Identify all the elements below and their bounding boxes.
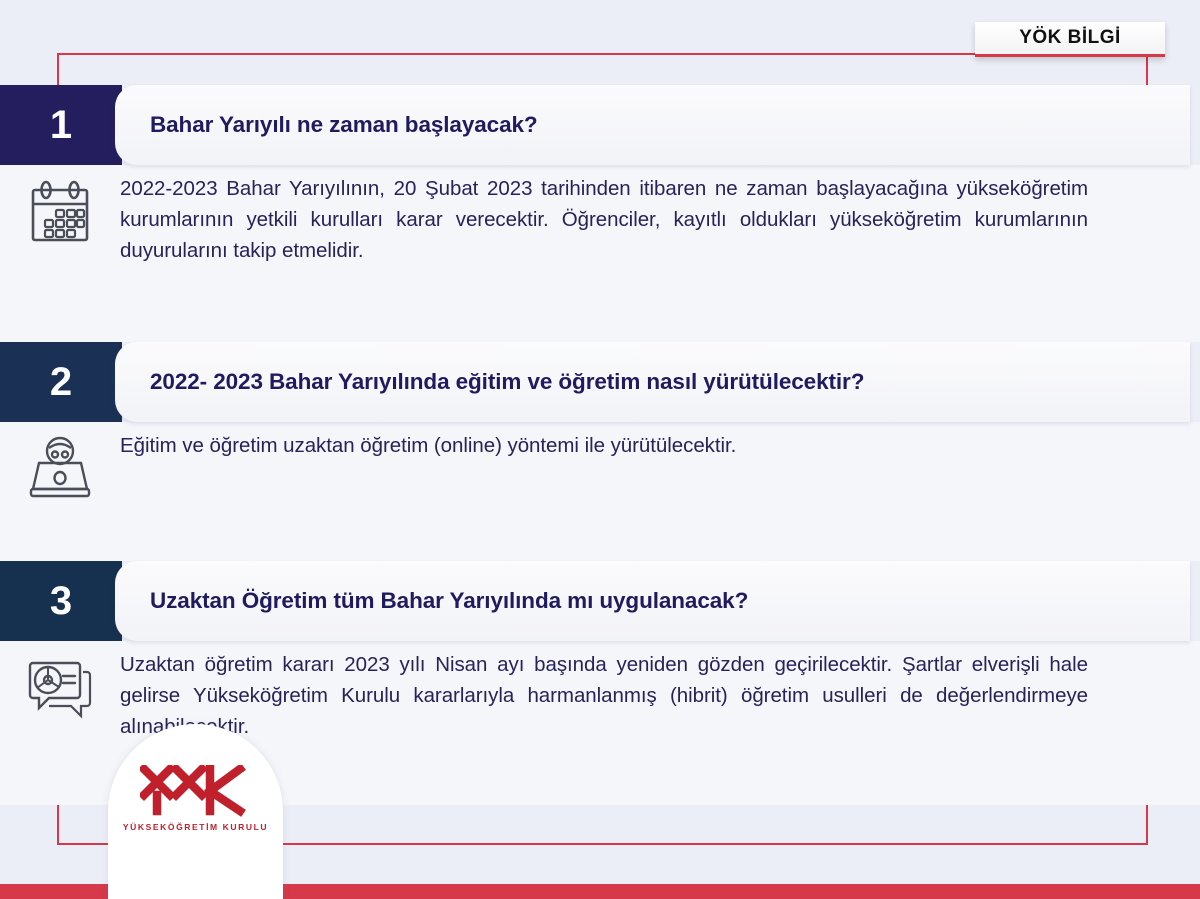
chat-chart-icon	[0, 641, 120, 721]
question-text-3: Uzaktan Öğretim tüm Bahar Yarıyılında mı…	[150, 588, 748, 614]
answer-text-2: Eğitim ve öğretim uzaktan öğretim (onlin…	[120, 422, 848, 461]
question-bar-2[interactable]: 2022- 2023 Bahar Yarıyılında eğitim ve ö…	[115, 342, 1190, 422]
answer-panel-1: 2022-2023 Bahar Yarıyılının, 20 Şubat 20…	[0, 165, 1200, 342]
question-number-badge-1: 1	[0, 85, 122, 165]
answer-text-1: 2022-2023 Bahar Yarıyılının, 20 Şubat 20…	[120, 165, 1200, 266]
question-text-2: 2022- 2023 Bahar Yarıyılında eğitim ve ö…	[150, 369, 864, 395]
yok-logo-caption: YÜKSEKÖĞRETİM KURULU	[123, 822, 268, 832]
calendar-icon	[0, 165, 120, 245]
answer-text-3: Uzaktan öğretim kararı 2023 yılı Nisan a…	[120, 641, 1200, 742]
question-number-badge-2: 2	[0, 342, 122, 422]
online-learning-icon	[0, 422, 120, 502]
yok-logo-mark	[140, 765, 252, 817]
answer-panel-2: Eğitim ve öğretim uzaktan öğretim (onlin…	[0, 422, 1200, 561]
yok-bilgi-tab-label: YÖK BİLGİ	[1019, 27, 1121, 49]
yok-bilgi-tab: YÖK BİLGİ	[975, 22, 1165, 57]
question-bar-3[interactable]: Uzaktan Öğretim tüm Bahar Yarıyılında mı…	[115, 561, 1190, 641]
yok-logo: YÜKSEKÖĞRETİM KURULU	[108, 724, 283, 899]
question-bar-1[interactable]: Bahar Yarıyılı ne zaman başlayacak?	[115, 85, 1190, 165]
question-number-badge-3: 3	[0, 561, 122, 641]
question-text-1: Bahar Yarıyılı ne zaman başlayacak?	[150, 112, 538, 138]
